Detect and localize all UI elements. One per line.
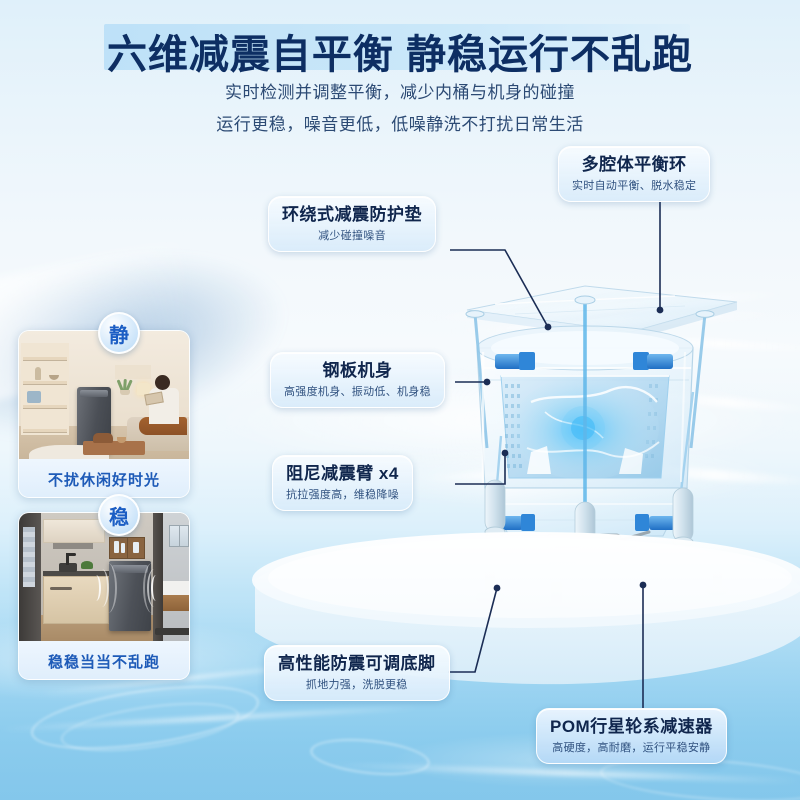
callout-subtitle: 抗拉强度高，维稳降噪	[286, 486, 399, 502]
callout-title: 环绕式减震防护垫	[282, 204, 422, 225]
callout-title: 多腔体平衡环	[572, 154, 696, 175]
callout-subtitle: 减少碰撞噪音	[282, 227, 422, 243]
callout-subtitle: 高硬度，高耐磨，运行平稳安静	[550, 739, 713, 755]
callout-subtitle: 抓地力强，洗脱更稳	[278, 676, 436, 692]
callout-surround-damping-pad[interactable]: 环绕式减震防护垫 减少碰撞噪音	[268, 196, 436, 252]
leader-dot-balance-ring	[657, 307, 664, 314]
badge-stable: 稳	[98, 494, 140, 536]
badge-label: 静	[109, 319, 129, 348]
callout-adjustable-anti-vibration-feet[interactable]: 高性能防震可调底脚 抓地力强，洗脱更稳	[264, 645, 450, 701]
leader-dot-feet	[494, 585, 501, 592]
leader-dot-damping-pad	[545, 324, 552, 331]
callout-damping-suspension-arm[interactable]: 阻尼减震臂 x4 抗拉强度高，维稳降噪	[272, 455, 413, 511]
leader-dot-steel-body	[484, 379, 491, 386]
promo-poster: 六维减震自平衡 静稳运行不乱跑 实时检测并调整平衡，减少内桶与机身的碰撞 运行更…	[0, 0, 800, 800]
callout-subtitle: 实时自动平衡、脱水稳定	[572, 177, 696, 193]
leader-dot-pom	[640, 582, 647, 589]
callout-title: 高性能防震可调底脚	[278, 653, 436, 674]
callout-steel-plate-body[interactable]: 钢板机身 高强度机身、振动低、机身稳	[270, 352, 445, 408]
leader-dot-damping-arm	[502, 450, 509, 457]
leader-feet	[448, 588, 497, 672]
callout-title: POM行星轮系减速器	[550, 716, 713, 737]
leader-damping-pad	[450, 250, 548, 327]
callout-pom-planetary-gear-reducer[interactable]: POM行星轮系减速器 高硬度，高耐磨，运行平稳安静	[536, 708, 727, 764]
callout-subtitle: 高强度机身、振动低、机身稳	[284, 383, 431, 399]
callout-title: 阻尼减震臂 x4	[286, 463, 399, 484]
badge-quiet: 静	[98, 312, 140, 354]
callout-title: 钢板机身	[284, 360, 431, 381]
callout-multi-chamber-balance-ring[interactable]: 多腔体平衡环 实时自动平衡、脱水稳定	[558, 146, 710, 202]
leader-damping-arm	[455, 453, 505, 484]
badge-label: 稳	[109, 501, 129, 530]
